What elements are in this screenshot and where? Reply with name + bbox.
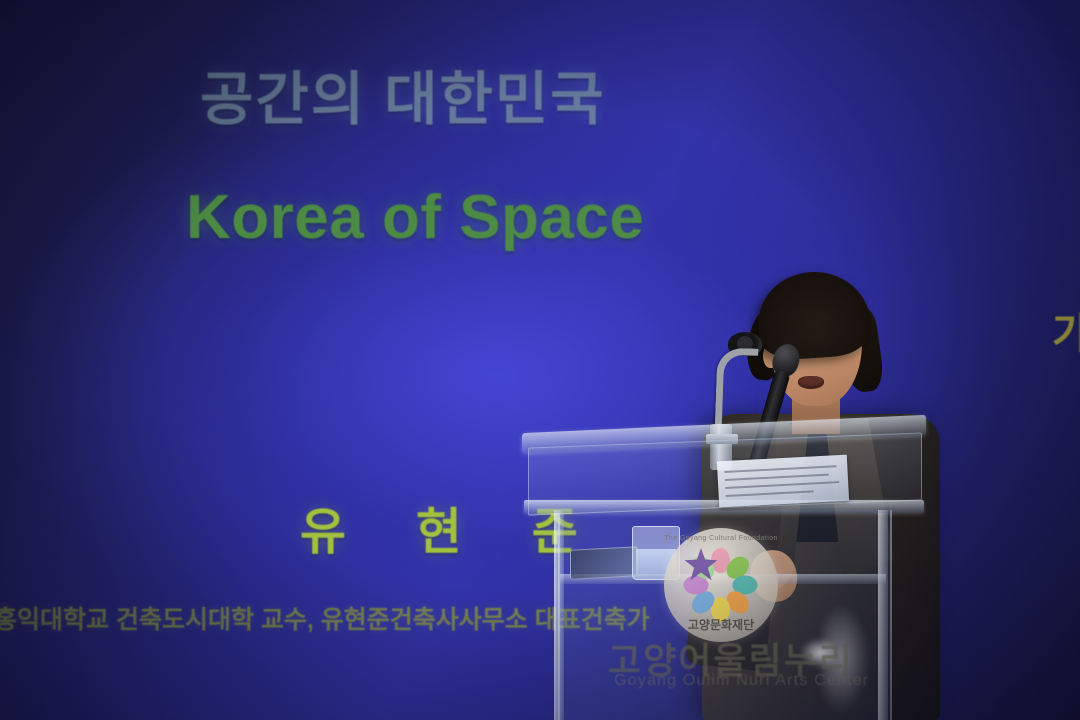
stage-photo: 공간의 대한민국 Korea of Space 유 현 준 홍익대학교 건축도시… [0, 0, 1080, 720]
photo-grain [0, 0, 1080, 720]
